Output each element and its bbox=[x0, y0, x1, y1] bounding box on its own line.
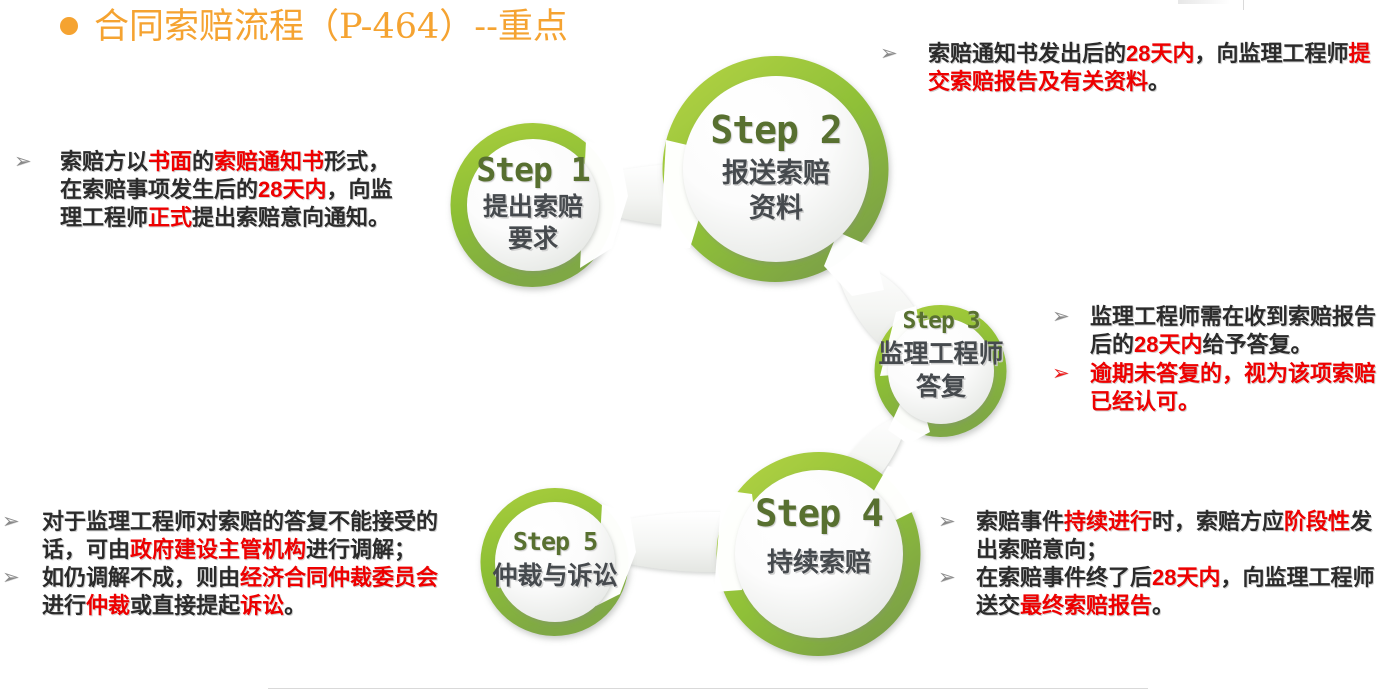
step-3-label-group: Step 3 监理工程师 答复 bbox=[851, 308, 1031, 428]
note-left-bottom-text-1: 对于监理工程师对索赔的答复不能接受的话，可由政府建设主管机构进行调解； bbox=[42, 508, 440, 564]
step-2-cn-line-1: 报送索赔 bbox=[676, 159, 876, 189]
step-4-cn-line-1: 持续索赔 bbox=[719, 548, 919, 577]
note-left-top-text: 索赔方以书面的索赔通知书形式，在索赔事项发生后的28天内，向监理工程师正式提出索… bbox=[60, 148, 400, 232]
note-right-bottom-text-1: 索赔事件持续进行时，索赔方应阶段性发出索赔意向； bbox=[976, 508, 1388, 564]
step-4-label-group: Step 4 持续索赔 bbox=[719, 492, 919, 622]
top-right-tick bbox=[1243, 0, 1244, 10]
step-2-label-group: Step 2 报送索赔 资料 bbox=[676, 108, 876, 248]
bullet-arrow-icon: ➢ bbox=[938, 564, 976, 590]
footer-divider bbox=[268, 688, 1148, 689]
bullet-arrow-icon: ➢ bbox=[880, 40, 928, 66]
slide-canvas: 合同索赔流程（P-464）--重点 bbox=[0, 0, 1399, 697]
note-right-top-text: 索赔通知书发出后的28天内，向监理工程师提交索赔报告及有关资料。 bbox=[928, 40, 1383, 96]
step-1-label-group: Step 1 提出索赔 要求 bbox=[433, 150, 633, 280]
step-5-en: Step 5 bbox=[455, 527, 655, 556]
bullet-arrow-icon: ➢ bbox=[14, 148, 60, 174]
step-1-en: Step 1 bbox=[433, 150, 633, 189]
note-right-bottom-text-2: 在索赔事件终了后28天内，向监理工程师送交最终索赔报告。 bbox=[976, 564, 1388, 620]
step-3-cn-line-2: 答复 bbox=[851, 374, 1031, 402]
step-1-cn-line-1: 提出索赔 bbox=[433, 194, 633, 222]
note-right-middle-text-2: 逾期未答复的，视为该项索赔已经认可。 bbox=[1090, 360, 1390, 416]
step-3-cn-line-1: 监理工程师 bbox=[851, 341, 1031, 369]
step-2-en: Step 2 bbox=[676, 108, 876, 152]
bullet-arrow-icon: ➢ bbox=[938, 508, 976, 534]
note-left-bottom-text-2: 如仍调解不成，则由经济合同仲裁委员会进行仲裁或直接提起诉讼。 bbox=[42, 564, 440, 620]
step-5-cn-line-1: 仲裁与诉讼 bbox=[455, 563, 655, 591]
step-3-en: Step 3 bbox=[851, 308, 1031, 334]
note-right-middle: ➢ 监理工程师需在收到索赔报告后的28天内给予答复。 ➢ 逾期未答复的，视为该项… bbox=[1052, 303, 1399, 416]
step-2-cn-line-2: 资料 bbox=[676, 194, 876, 224]
step-4-en: Step 4 bbox=[719, 492, 919, 535]
note-left-top: ➢ 索赔方以书面的索赔通知书形式，在索赔事项发生后的28天内，向监理工程师正式提… bbox=[14, 148, 414, 232]
note-left-bottom: ➢ 对于监理工程师对索赔的答复不能接受的话，可由政府建设主管机构进行调解； ➢ … bbox=[2, 508, 447, 620]
bullet-arrow-icon: ➢ bbox=[2, 508, 42, 534]
note-right-middle-text-1: 监理工程师需在收到索赔报告后的28天内给予答复。 bbox=[1090, 303, 1390, 359]
step-1-cn-line-2: 要求 bbox=[433, 226, 633, 254]
note-right-bottom: ➢ 索赔事件持续进行时，索赔方应阶段性发出索赔意向； ➢ 在索赔事件终了后28天… bbox=[938, 508, 1398, 620]
top-right-artifact bbox=[1178, 0, 1230, 4]
step-5-label-group: Step 5 仲裁与诉讼 bbox=[455, 527, 655, 637]
bullet-arrow-icon: ➢ bbox=[1052, 303, 1090, 329]
bullet-arrow-icon: ➢ bbox=[2, 564, 42, 590]
note-right-top: ➢ 索赔通知书发出后的28天内，向监理工程师提交索赔报告及有关资料。 bbox=[880, 40, 1390, 96]
bullet-arrow-icon-red: ➢ bbox=[1052, 360, 1090, 386]
